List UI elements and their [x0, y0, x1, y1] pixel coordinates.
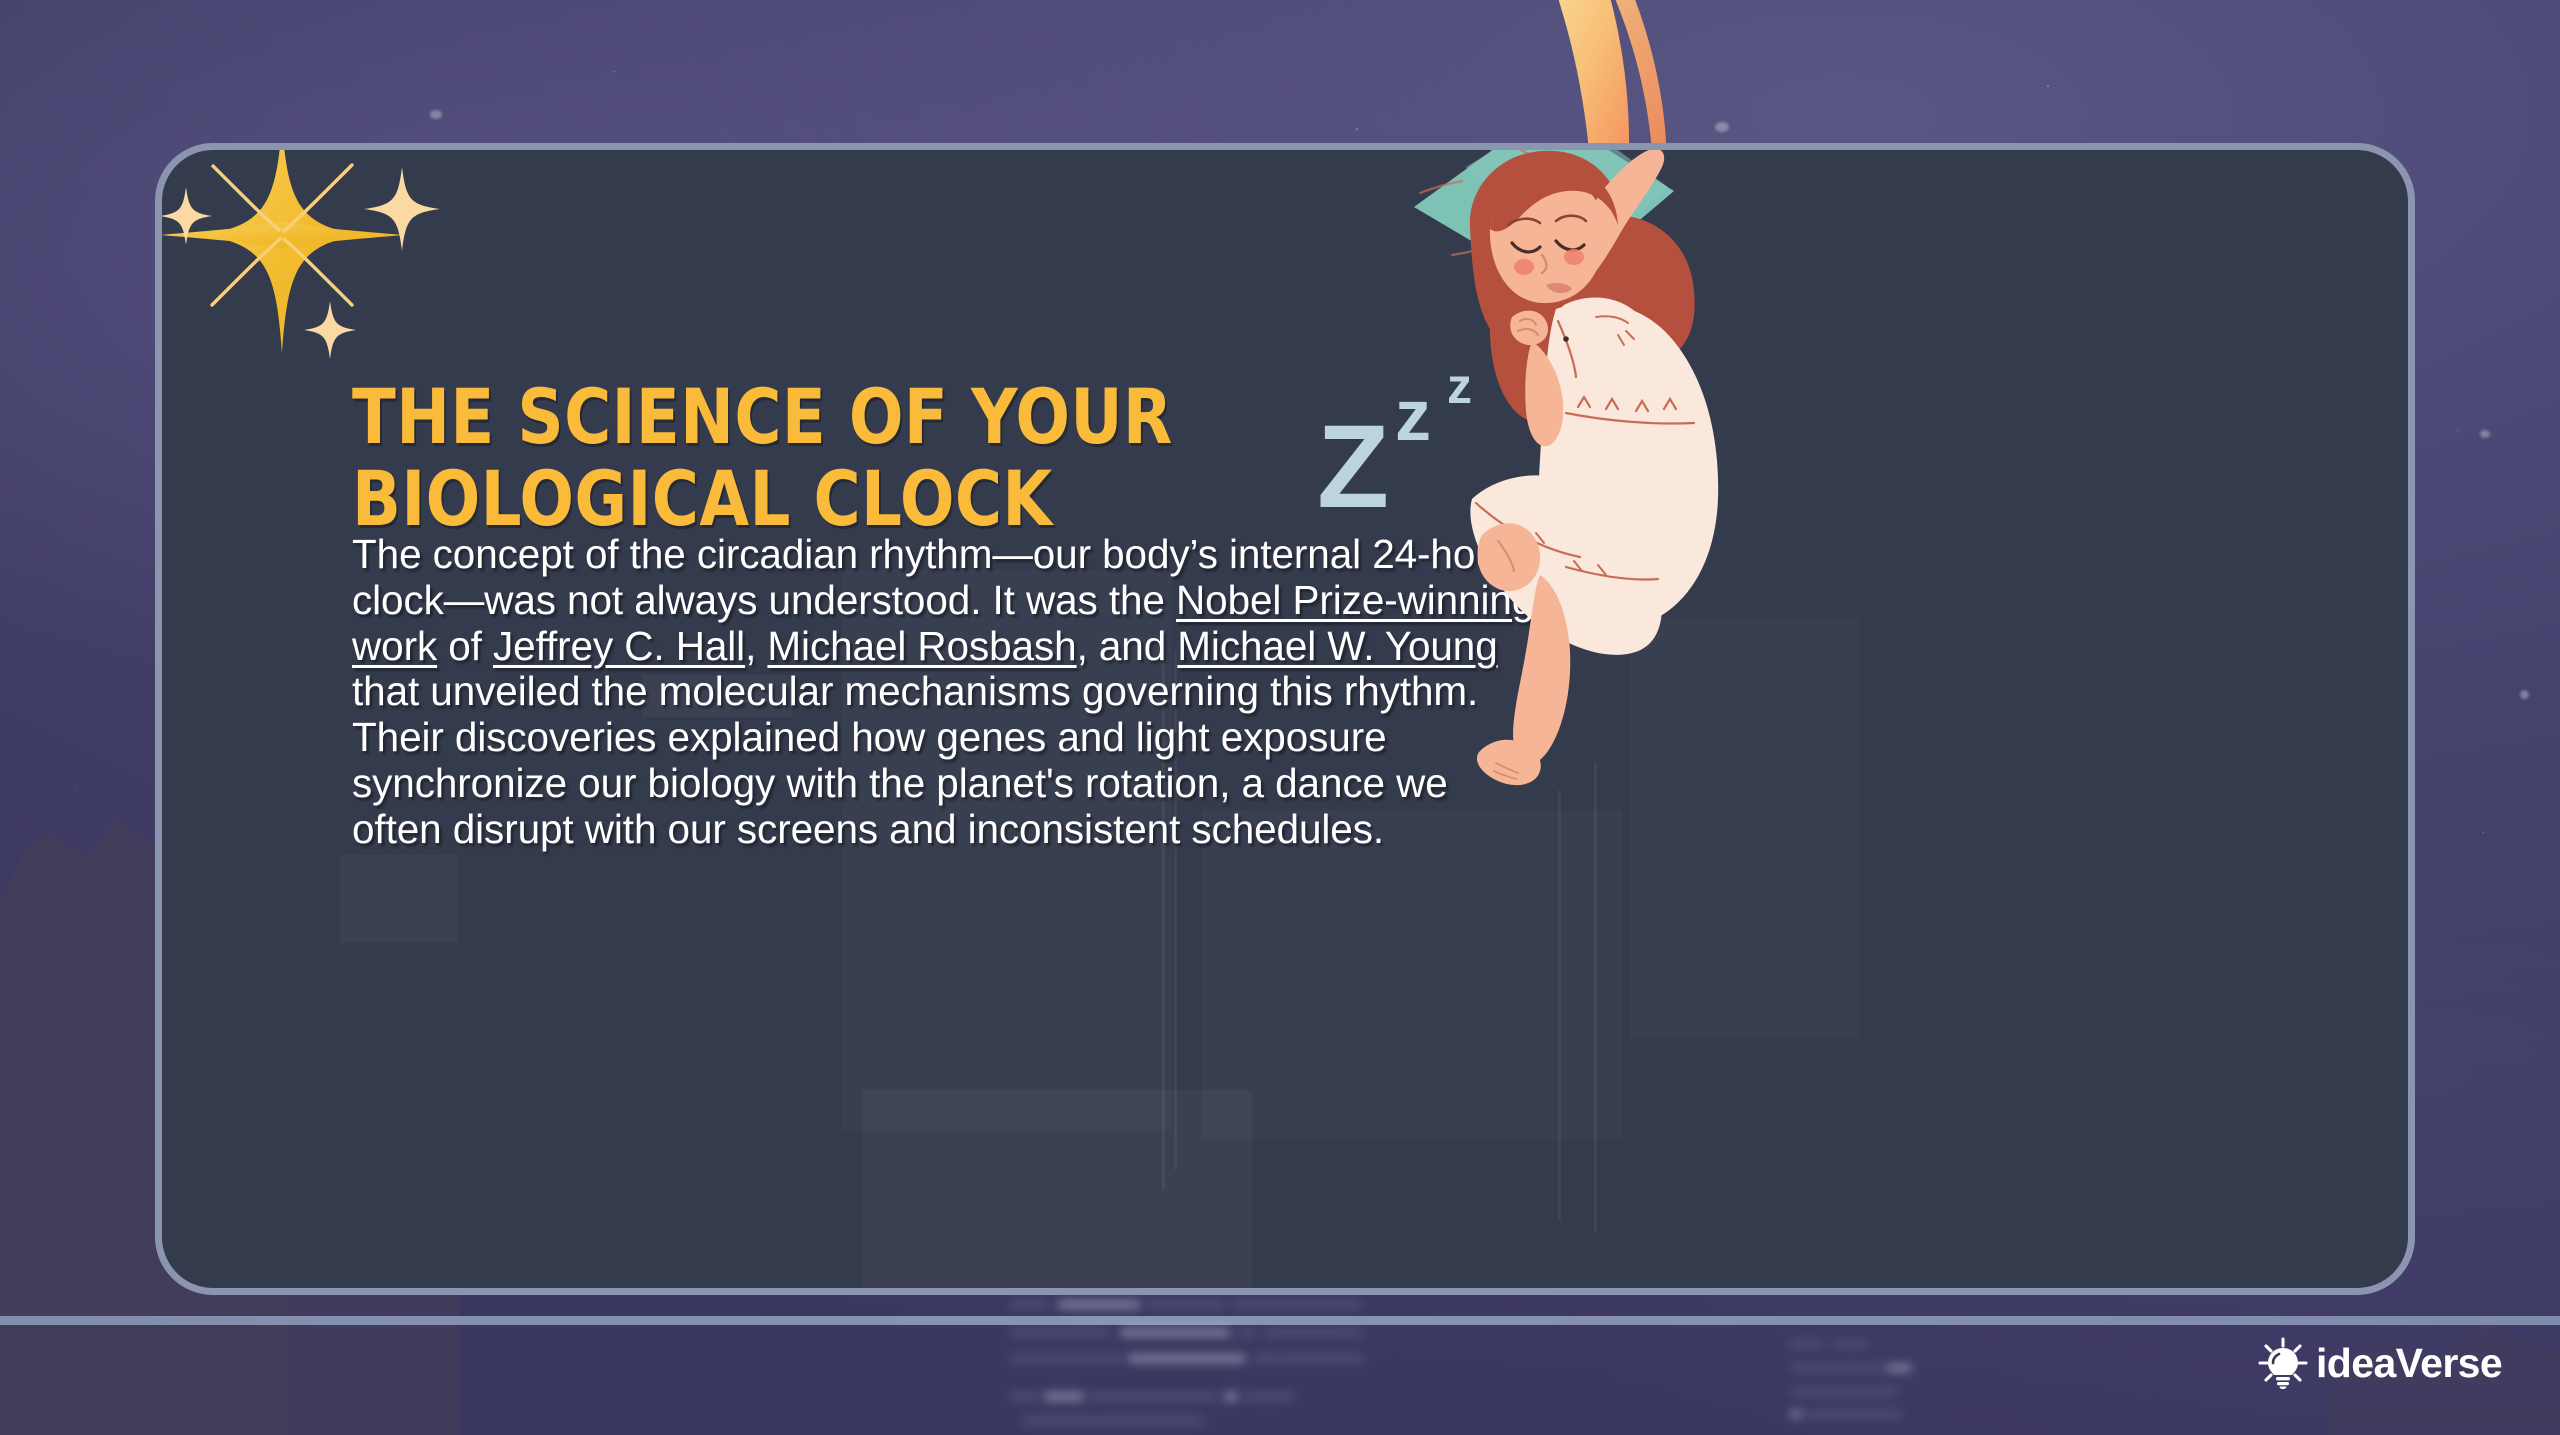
- sky-speck: [2520, 690, 2529, 699]
- content-card: THE SCIENCE OF YOUR BIOLOGICAL CLOCK The…: [155, 143, 2415, 1295]
- body-text-run: Their discoveries explained how genes an…: [352, 714, 1387, 760]
- sleeping-girl-illustration: [1406, 143, 1766, 795]
- zzz-large: Z: [1317, 408, 1389, 526]
- blurred-article-backdrop: [1010, 1292, 1570, 1435]
- background-shape: [340, 855, 458, 943]
- body-line: The concept of the circadian rhythm—our …: [352, 532, 1492, 578]
- body-line: Their discoveries explained how genes an…: [352, 715, 1492, 761]
- poster-canvas: THE SCIENCE OF YOUR BIOLOGICAL CLOCK The…: [0, 0, 2560, 1435]
- body-line: synchronize our biology with the planet'…: [352, 761, 1492, 807]
- body-text-run: synchronize our biology with the planet'…: [352, 760, 1448, 806]
- brand-logo[interactable]: ideaVerse: [2257, 1337, 2502, 1389]
- inline-link[interactable]: Jeffrey C. Hall: [493, 623, 745, 669]
- sky-speck: [1715, 122, 1729, 132]
- body-line: that unveiled the molecular mechanisms g…: [352, 669, 1492, 715]
- background-line: [1594, 762, 1597, 1232]
- lightbulb-icon: [2257, 1337, 2309, 1389]
- body-text-run: that unveiled the molecular mechanisms g…: [352, 668, 1478, 714]
- inline-link[interactable]: work: [352, 623, 437, 669]
- brand-name: ideaVerse: [2316, 1343, 2502, 1384]
- sky-speck: [2480, 430, 2490, 438]
- body-line: often disrupt with our screens and incon…: [352, 807, 1492, 853]
- body-text-run: ,: [745, 623, 767, 669]
- body-text-run: often disrupt with our screens and incon…: [352, 806, 1384, 852]
- page-title: THE SCIENCE OF YOUR BIOLOGICAL CLOCK: [352, 376, 1173, 540]
- blurred-sidebar-backdrop: [1790, 1340, 1920, 1435]
- body-text-run: of: [437, 623, 493, 669]
- sky-speck: [430, 110, 442, 119]
- body-line: work of Jeffrey C. Hall, Michael Rosbash…: [352, 624, 1492, 670]
- body-text-run: clock—was not always understood. It was …: [352, 577, 1176, 623]
- body-text-run: The concept of the circadian rhythm—our …: [352, 531, 1511, 577]
- inline-link[interactable]: Michael Rosbash: [767, 623, 1076, 669]
- body-line: clock—was not always understood. It was …: [352, 578, 1492, 624]
- body-text-run: , and: [1077, 623, 1178, 669]
- body-paragraph: The concept of the circadian rhythm—our …: [352, 532, 1492, 853]
- background-shape: [862, 1090, 1252, 1295]
- background-line: [1558, 790, 1561, 1220]
